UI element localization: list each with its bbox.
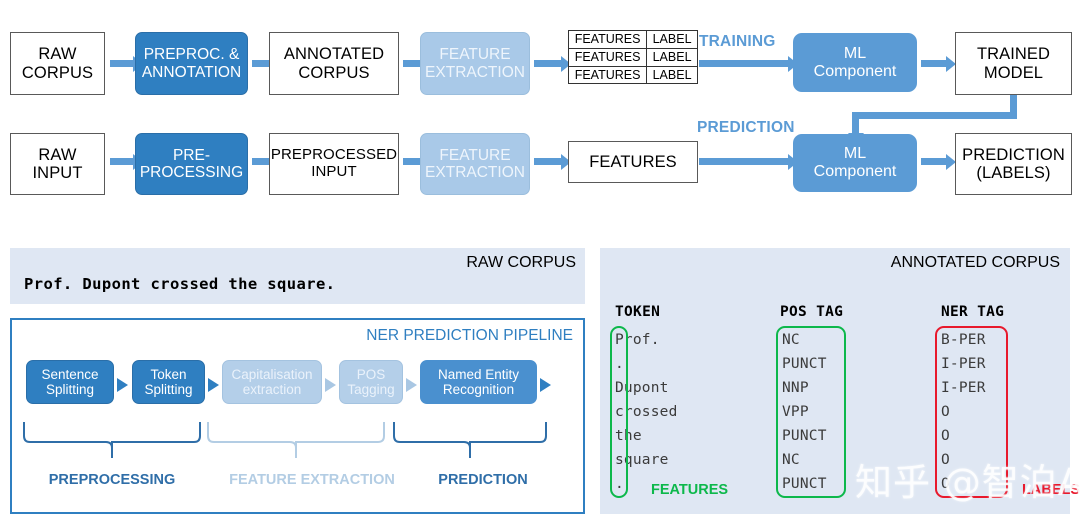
arrow-featext-to-features: [534, 158, 562, 165]
label-training: TRAINING: [699, 33, 776, 51]
column-header-token: TOKEN: [615, 304, 660, 320]
pipe-step-pos-tagging: POS Tagging: [339, 360, 403, 404]
node-raw-corpus: RAW CORPUS: [10, 32, 105, 95]
cell-features: FEATURES: [569, 48, 647, 66]
node-feature-extraction-training: FEATURE EXTRACTION: [420, 32, 530, 95]
pipe-arrow-5: [540, 378, 551, 392]
pipe-step-sentence-splitting: Sentence Splitting: [26, 360, 114, 404]
node-prediction-labels: PREDICTION (LABELS): [955, 133, 1072, 195]
node-features: FEATURES: [568, 141, 698, 183]
node-ml-component-prediction: ML Component: [793, 134, 917, 192]
node-trained-model: TRAINED MODEL: [955, 32, 1072, 95]
raw-corpus-sentence: Prof. Dupont crossed the square.: [24, 275, 335, 293]
table-row: FEATURES LABEL: [569, 31, 698, 49]
arrow-raw-corpus-to-preproc: [110, 60, 134, 67]
pos-tag-column-highlight: [776, 326, 846, 498]
node-annotated-corpus: ANNOTATED CORPUS: [269, 32, 399, 95]
node-preprocessed-input: PREPROCESSED INPUT: [269, 133, 399, 195]
table-row: FEATURES LABEL: [569, 66, 698, 84]
cell-label: LABEL: [647, 31, 698, 49]
arrow-features-to-ml-prediction: [699, 158, 789, 165]
pipe-arrow-1: [117, 378, 128, 392]
pipe-step-capitalisation-extraction: Capitalisation extraction: [222, 360, 322, 404]
features-caption: FEATURES: [651, 482, 728, 498]
arrow-raw-input-to-preprocessing: [110, 158, 134, 165]
cell-label: LABEL: [647, 48, 698, 66]
node-raw-input: RAW INPUT: [10, 133, 105, 195]
cell-features: FEATURES: [569, 31, 647, 49]
pipe-arrow-3: [325, 378, 336, 392]
arrow-ml-to-prediction-labels: [921, 158, 947, 165]
token-column-highlight: [610, 326, 628, 498]
pipe-arrow-4: [406, 378, 417, 392]
pipe-step-named-entity-recognition: Named Entity Recognition: [420, 360, 537, 404]
cell-features: FEATURES: [569, 66, 647, 84]
labels-caption: LABELS: [1022, 482, 1080, 498]
pipe-step-token-splitting: Token Splitting: [132, 360, 205, 404]
node-pre-processing: PRE- PROCESSING: [135, 133, 248, 195]
label-prediction: PREDICTION: [697, 119, 795, 137]
pipeline-braces: [22, 418, 567, 462]
feedback-line-horizontal: [852, 112, 1017, 119]
column-header-ner-tag: NER TAG: [941, 304, 1004, 320]
arrow-ml-to-trained-model: [921, 60, 947, 67]
group-label-feature-extraction: FEATURE EXTRACTION: [207, 472, 417, 488]
node-preproc-annotation: PREPROC. & ANNOTATION: [135, 32, 248, 95]
features-label-table: FEATURES LABEL FEATURES LABEL FEATURES L…: [568, 30, 698, 84]
arrow-featext-to-table: [534, 60, 562, 67]
raw-corpus-panel: RAW CORPUS Prof. Dupont crossed the squa…: [10, 248, 585, 304]
pipe-arrow-2: [208, 378, 219, 392]
table-row: FEATURES LABEL: [569, 48, 698, 66]
column-header-pos-tag: POS TAG: [780, 304, 843, 320]
ner-pipeline-panel-title: NER PREDICTION PIPELINE: [366, 327, 573, 345]
annotated-corpus-panel-title: ANNOTATED CORPUS: [891, 254, 1060, 272]
group-label-prediction: PREDICTION: [413, 472, 553, 488]
arrow-table-to-ml-training: [699, 60, 789, 67]
node-ml-component-training: ML Component: [793, 33, 917, 92]
ner-tag-column-highlight: [935, 326, 1008, 498]
cell-label: LABEL: [647, 66, 698, 84]
raw-corpus-panel-title: RAW CORPUS: [466, 254, 576, 272]
group-label-preprocessing: PREPROCESSING: [42, 472, 182, 488]
feedback-arrow-down-to-ml: [852, 112, 859, 134]
node-feature-extraction-prediction: FEATURE EXTRACTION: [420, 133, 530, 195]
diagram-canvas: RAW CORPUS PREPROC. & ANNOTATION ANNOTAT…: [0, 0, 1080, 523]
features-label-table-body: FEATURES LABEL FEATURES LABEL FEATURES L…: [569, 31, 698, 84]
